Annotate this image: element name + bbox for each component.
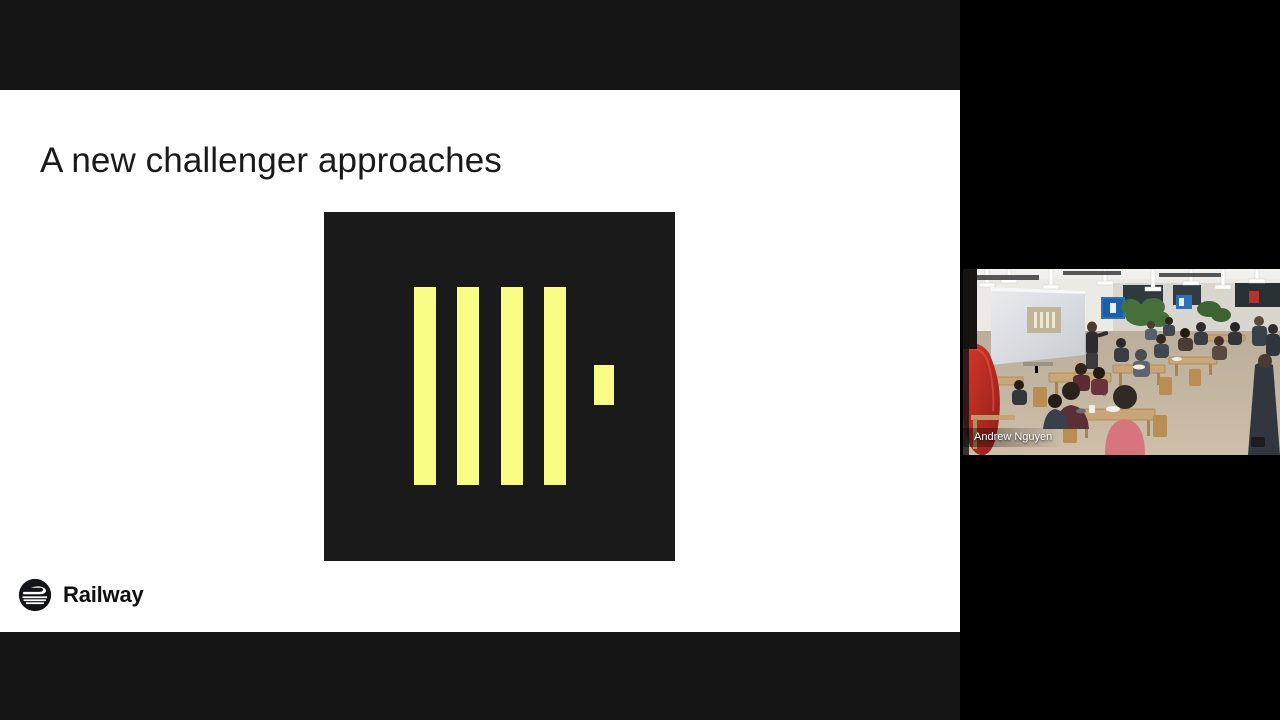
logo-bar-1 bbox=[414, 287, 436, 485]
presentation-slide: A new challenger approaches Railway bbox=[0, 90, 960, 632]
logo-bar-2 bbox=[457, 287, 479, 485]
railway-logo-icon bbox=[18, 578, 52, 612]
brand-wordmark: Railway bbox=[63, 582, 144, 608]
logo-bar-4 bbox=[544, 287, 566, 485]
participant-video-tile[interactable]: Andrew Nguyen bbox=[963, 269, 1280, 455]
share-letterbox-bottom bbox=[0, 632, 960, 720]
logo-bar-short bbox=[594, 365, 614, 405]
logo-bar-3 bbox=[501, 287, 523, 485]
share-letterbox-top bbox=[0, 0, 960, 90]
video-frame bbox=[963, 269, 1280, 455]
shared-screen-region[interactable]: A new challenger approaches Railway bbox=[0, 0, 960, 720]
slide-title: A new challenger approaches bbox=[40, 142, 502, 181]
slide-artwork-card bbox=[324, 212, 675, 561]
brand-lockup: Railway bbox=[18, 578, 144, 612]
meeting-stage: A new challenger approaches Railway bbox=[0, 0, 1280, 720]
